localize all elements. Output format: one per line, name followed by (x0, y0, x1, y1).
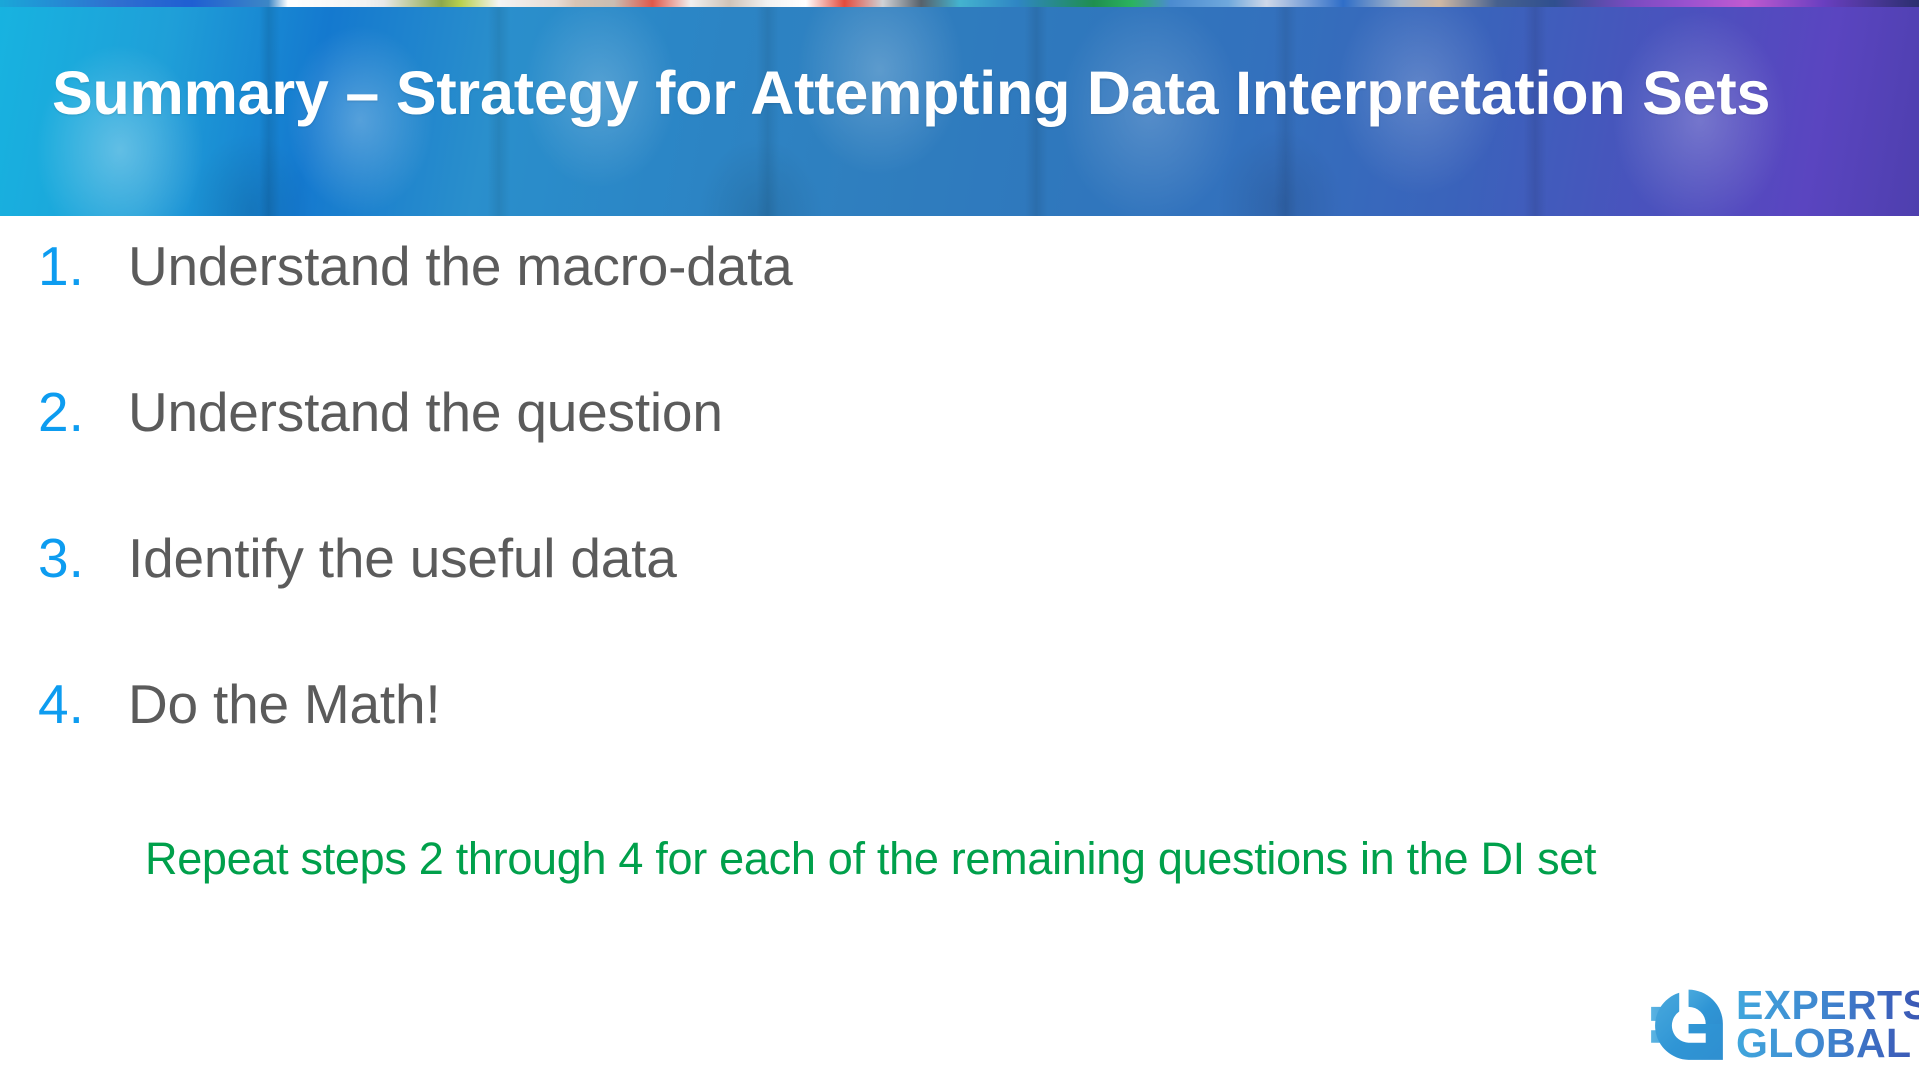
logo-text-experts: EXPERTS’ (1736, 986, 1919, 1024)
slide-body: 1. Understand the macro-data 2. Understa… (0, 216, 1919, 1079)
step-number-3: 3. (38, 526, 128, 590)
logo-wordmark: EXPERTS’ GLOBAL (1736, 986, 1919, 1062)
header-banner: Summary – Strategy for Attempting Data I… (0, 0, 1919, 216)
slide-title: Summary – Strategy for Attempting Data I… (52, 63, 1882, 124)
list-item: 3. Identify the useful data (38, 526, 677, 590)
header-top-color-strip (0, 0, 1919, 7)
slide: Summary – Strategy for Attempting Data I… (0, 0, 1919, 1079)
experts-global-logo: EXPERTS’ GLOBAL (1648, 978, 1898, 1070)
list-item: 2. Understand the question (38, 380, 723, 444)
step-label-4: Do the Math! (128, 672, 440, 736)
step-label-3: Identify the useful data (128, 526, 677, 590)
step-number-4: 4. (38, 672, 128, 736)
list-item: 1. Understand the macro-data (38, 234, 793, 298)
step-number-2: 2. (38, 380, 128, 444)
list-item: 4. Do the Math! (38, 672, 440, 736)
logo-text-global: GLOBAL (1736, 1024, 1919, 1062)
step-label-1: Understand the macro-data (128, 234, 793, 298)
repeat-instruction-note: Repeat steps 2 through 4 for each of the… (145, 833, 1596, 885)
step-label-2: Understand the question (128, 380, 723, 444)
step-number-1: 1. (38, 234, 128, 298)
experts-global-logo-mark-icon (1648, 985, 1726, 1063)
